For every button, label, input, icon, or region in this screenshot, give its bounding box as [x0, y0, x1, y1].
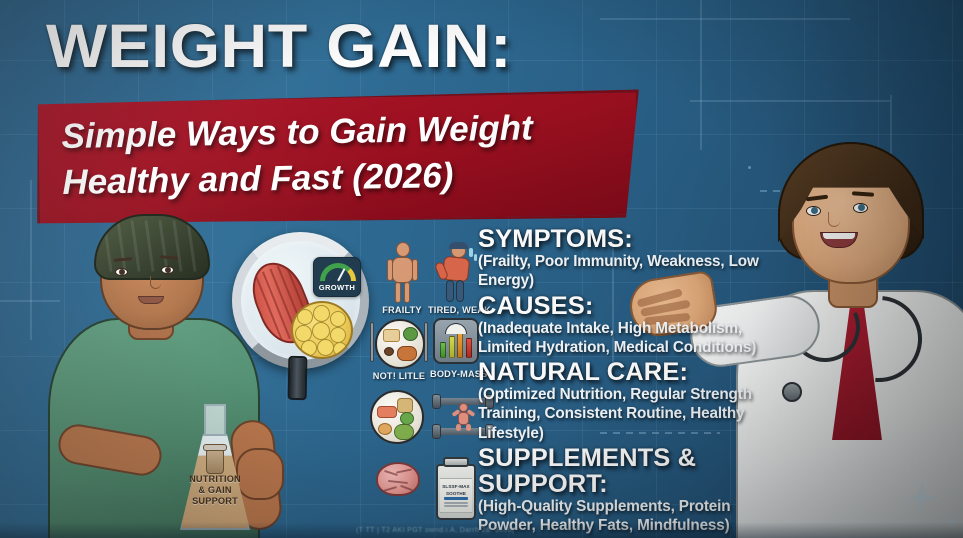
vignette-overlay	[0, 0, 963, 538]
infographic-canvas: WEIGHT GAIN: Simple Ways to Gain Weight …	[0, 0, 963, 538]
